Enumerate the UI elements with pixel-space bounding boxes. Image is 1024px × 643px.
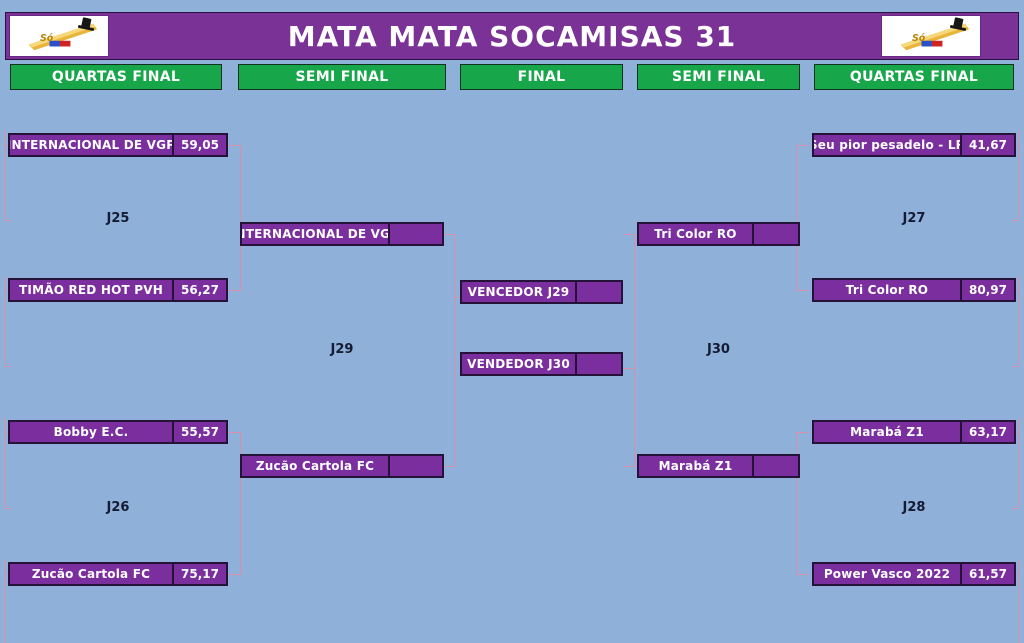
connector xyxy=(5,560,6,643)
team-name: Zucão Cartola FC xyxy=(32,567,150,581)
match-id-j25: J25 xyxy=(8,211,228,226)
team-score-cell: 41,67 xyxy=(960,135,1014,155)
team-score-cell xyxy=(388,456,442,476)
team-score-cell: 63,17 xyxy=(960,422,1014,442)
match-slot-j28-team2[interactable]: Power Vasco 2022 61,57 xyxy=(812,562,1016,586)
connector xyxy=(1018,276,1019,366)
team-score-cell xyxy=(752,456,798,476)
team-score: 63,17 xyxy=(969,425,1007,439)
stage-header-final[interactable]: FINAL xyxy=(460,64,623,90)
match-slot-j28-team1[interactable]: Marabá Z1 63,17 xyxy=(812,420,1016,444)
team-name-cell: Marabá Z1 xyxy=(814,422,960,442)
team-score-cell: 61,57 xyxy=(960,564,1014,584)
bracket-canvas: MATA MATA SOCAMISAS 31 Só Só QUARTAS FIN xyxy=(0,0,1024,643)
connector xyxy=(796,432,808,433)
match-slot-j30-team2[interactable]: Marabá Z1 xyxy=(637,454,800,478)
connector xyxy=(796,145,797,291)
connector xyxy=(5,366,11,367)
team-name-cell: Bobby E.C. xyxy=(10,422,172,442)
team-name: VENCEDOR J29 xyxy=(468,285,570,299)
team-name-cell: Zucão Cartola FC xyxy=(242,456,388,476)
match-slot-final-team1[interactable]: VENCEDOR J29 xyxy=(460,280,623,304)
match-slot-j29-team2[interactable]: Zucão Cartola FC xyxy=(240,454,444,478)
team-name: Tri Color RO xyxy=(654,227,736,241)
team-score: 75,17 xyxy=(181,567,219,581)
team-score-cell xyxy=(752,224,798,244)
match-id-j27: J27 xyxy=(812,211,1016,226)
svg-text:Só: Só xyxy=(40,33,54,44)
svg-text:Só: Só xyxy=(912,33,926,44)
team-name: VENDEDOR J30 xyxy=(467,357,570,371)
match-slot-j30-team1[interactable]: Tri Color RO xyxy=(637,222,800,246)
match-slot-j25-team2[interactable]: TIMÃO RED HOT PVH 56,27 xyxy=(8,278,228,302)
match-id-j30: J30 xyxy=(637,342,800,357)
team-name-cell: VENDEDOR J30 xyxy=(462,354,575,374)
team-score: 41,67 xyxy=(969,138,1007,152)
title-bar: MATA MATA SOCAMISAS 31 xyxy=(5,12,1019,60)
team-name-cell: Tri Color RO xyxy=(814,280,960,300)
connector xyxy=(1018,418,1019,508)
team-score: 80,97 xyxy=(969,283,1007,297)
connector xyxy=(240,145,241,291)
match-slot-j26-team2[interactable]: Zucão Cartola FC 75,17 xyxy=(8,562,228,586)
team-name-cell: Zucão Cartola FC xyxy=(10,564,172,584)
match-id-j28: J28 xyxy=(812,500,1016,515)
team-score: 55,57 xyxy=(181,425,219,439)
team-name: Power Vasco 2022 xyxy=(824,567,950,581)
connector xyxy=(444,466,454,467)
stage-header-label: QUARTAS FINAL xyxy=(52,69,180,85)
team-score: 61,57 xyxy=(969,567,1007,581)
stage-header-label: SEMI FINAL xyxy=(672,69,765,85)
connector xyxy=(634,234,635,467)
team-name: Zucão Cartola FC xyxy=(256,459,374,473)
team-score-cell: 80,97 xyxy=(960,280,1014,300)
team-score-cell xyxy=(575,282,621,302)
connector xyxy=(228,432,240,433)
connector xyxy=(796,574,808,575)
team-name: Marabá Z1 xyxy=(659,459,733,473)
connector xyxy=(228,145,240,146)
team-name-cell: Tri Color RO xyxy=(639,224,752,244)
team-name-cell: Seu pior pesadelo - LR xyxy=(814,135,960,155)
team-score-cell xyxy=(388,224,442,244)
team-name: INTERNACIONAL DE VGP xyxy=(242,227,388,241)
team-name: Seu pior pesadelo - LR xyxy=(814,138,960,152)
team-name-cell: Power Vasco 2022 xyxy=(814,564,960,584)
team-score-cell: 55,57 xyxy=(172,422,226,442)
connector xyxy=(444,234,454,235)
team-name: INTERNACIONAL DE VGP xyxy=(10,138,172,152)
stage-header-label: QUARTAS FINAL xyxy=(850,69,978,85)
match-slot-j25-team1[interactable]: INTERNACIONAL DE VGP 59,05 xyxy=(8,133,228,157)
match-slot-j27-team1[interactable]: Seu pior pesadelo - LR 41,67 xyxy=(812,133,1016,157)
connector xyxy=(1012,366,1018,367)
stage-header-label: FINAL xyxy=(518,69,566,85)
match-slot-final-team2[interactable]: VENDEDOR J30 xyxy=(460,352,623,376)
connector xyxy=(624,234,634,235)
team-score: 56,27 xyxy=(181,283,219,297)
connector xyxy=(5,130,6,220)
connector xyxy=(228,574,240,575)
team-score-cell: 56,27 xyxy=(172,280,226,300)
team-name-cell: VENCEDOR J29 xyxy=(462,282,575,302)
match-slot-j29-team1[interactable]: INTERNACIONAL DE VGP xyxy=(240,222,444,246)
connector xyxy=(796,290,808,291)
match-slot-j26-team1[interactable]: Bobby E.C. 55,57 xyxy=(8,420,228,444)
so-campeonatos-logo: Só xyxy=(9,15,109,57)
so-campeonatos-logo: Só xyxy=(881,15,981,57)
stage-header-label: SEMI FINAL xyxy=(296,69,389,85)
team-name-cell: INTERNACIONAL DE VGP xyxy=(242,224,388,244)
stage-header-quartas-final-left[interactable]: QUARTAS FINAL xyxy=(10,64,222,90)
team-name-cell: TIMÃO RED HOT PVH xyxy=(10,280,172,300)
team-score-cell: 59,05 xyxy=(172,135,226,155)
team-name: Bobby E.C. xyxy=(54,425,129,439)
stage-header-semi-final-left[interactable]: SEMI FINAL xyxy=(238,64,446,90)
match-id-j29: J29 xyxy=(240,342,444,357)
team-name-cell: Marabá Z1 xyxy=(639,456,752,476)
connector xyxy=(228,290,240,291)
connector xyxy=(624,368,634,369)
team-score-cell xyxy=(575,354,621,374)
team-name: TIMÃO RED HOT PVH xyxy=(19,283,163,297)
match-id-j26: J26 xyxy=(8,500,228,515)
connector xyxy=(454,234,455,467)
team-score-cell: 75,17 xyxy=(172,564,226,584)
connector xyxy=(624,466,634,467)
stage-header-semi-final-right[interactable]: SEMI FINAL xyxy=(637,64,800,90)
page-title: MATA MATA SOCAMISAS 31 xyxy=(288,20,737,53)
team-score: 59,05 xyxy=(181,138,219,152)
connector xyxy=(796,145,808,146)
stage-header-quartas-final-right[interactable]: QUARTAS FINAL xyxy=(814,64,1014,90)
team-name: Tri Color RO xyxy=(846,283,928,297)
team-name-cell: INTERNACIONAL DE VGP xyxy=(10,135,172,155)
team-name: Marabá Z1 xyxy=(850,425,924,439)
match-slot-j27-team2[interactable]: Tri Color RO 80,97 xyxy=(812,278,1016,302)
connector xyxy=(1018,130,1019,220)
connector xyxy=(1018,560,1019,643)
